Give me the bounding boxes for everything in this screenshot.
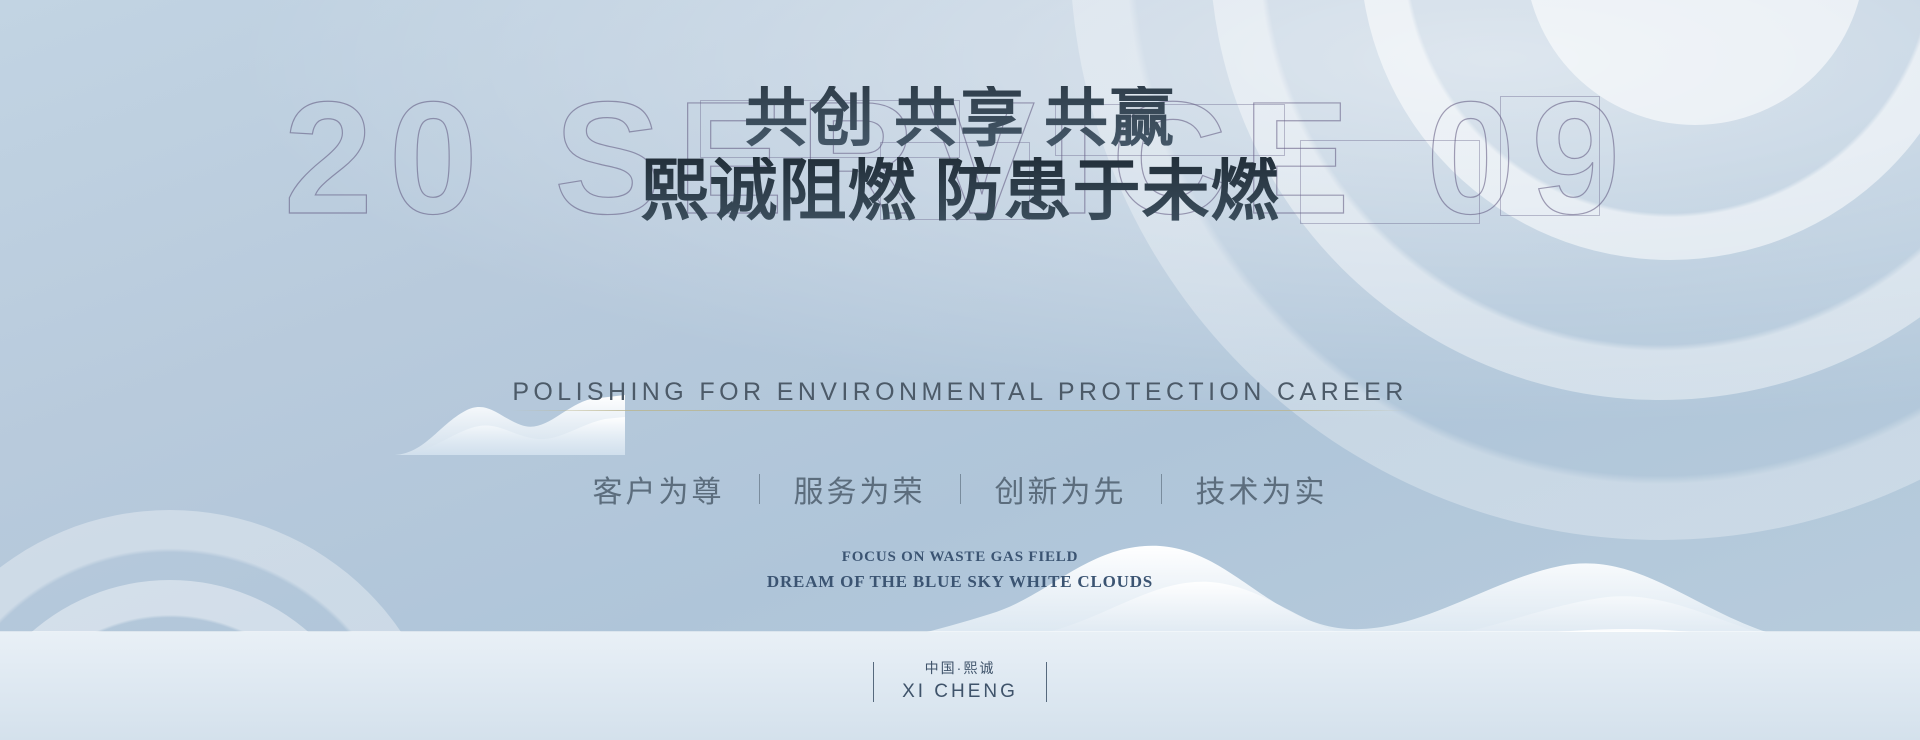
headline-line-1: 共创 共享 共赢 xyxy=(0,86,1920,151)
value-item-4: 技术为实 xyxy=(1162,467,1362,511)
logo-english-name: XI CHENG xyxy=(902,679,1018,706)
value-item-1: 客户为尊 xyxy=(559,467,759,511)
logo-right-bar-icon xyxy=(1046,662,1048,702)
subline-2: DREAM OF THE BLUE SKY WHITE CLOUDS xyxy=(0,569,1920,595)
value-item-2: 服务为荣 xyxy=(760,467,960,511)
serif-subline-block: FOCUS ON WASTE GAS FIELD DREAM OF THE BL… xyxy=(0,546,1920,594)
promo-banner: 20 SERVICE 09 xyxy=(0,0,1920,740)
headline-line-2: 熙诚阻燃 防患于未燃 xyxy=(0,157,1920,226)
logo-text-block: 中国·熙诚 XI CHENG xyxy=(902,658,1018,706)
tagline-underline-rule xyxy=(510,410,1410,411)
headline-block: 共创 共享 共赢 熙诚阻燃 防患于未燃 xyxy=(0,86,1920,227)
logo-chinese-name: 中国·熙诚 xyxy=(902,658,1018,679)
logo-left-bar-icon xyxy=(873,662,875,702)
subline-1: FOCUS ON WASTE GAS FIELD xyxy=(0,546,1920,569)
value-item-3: 创新为先 xyxy=(961,467,1161,511)
brand-logo-lockup: 中国·熙诚 XI CHENG xyxy=(0,658,1920,706)
values-row: 客户为尊 服务为荣 创新为先 技术为实 xyxy=(0,467,1920,511)
english-tagline: POLISHING FOR ENVIRONMENTAL PROTECTION C… xyxy=(0,378,1920,407)
